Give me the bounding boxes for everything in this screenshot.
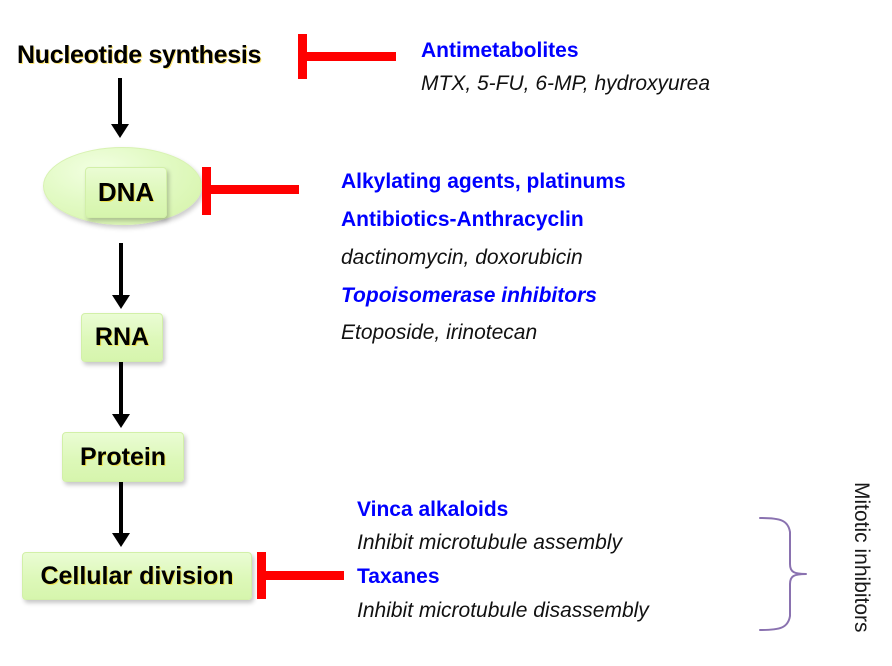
annotation-line-anthracyclin-examples: dactinomycin, doxorubicin bbox=[341, 238, 626, 278]
annotation-line-vinca-mechanism: Inhibit microtubule assembly bbox=[357, 526, 649, 559]
inhibition-bar-division-arm bbox=[257, 571, 344, 580]
annotation-line-topoisomerase-examples: Etoposide, irinotecan bbox=[341, 314, 626, 351]
annotation-line-taxanes-mechanism: Inhibit microtubule disassembly bbox=[357, 594, 649, 628]
arrow-rna-to-protein-head bbox=[112, 414, 130, 428]
arrow-protein-to-division-stem bbox=[119, 482, 123, 535]
annotation-line-alkylating-agents: Alkylating agents, platinums bbox=[341, 162, 626, 202]
flow-node-dna-label: DNA bbox=[98, 177, 154, 208]
flow-node-cellular-division: Cellular division bbox=[22, 552, 252, 600]
annotation-line-antimetabolite-examples: MTX, 5-FU, 6-MP, hydroxyurea bbox=[421, 66, 710, 102]
flow-node-rna-label: RNA bbox=[95, 323, 149, 352]
diagram-canvas: Nucleotide synthesis DNA RNA Protein Cel… bbox=[0, 0, 892, 666]
arrow-dna-to-rna-head bbox=[112, 295, 130, 309]
flow-node-nucleotide-synthesis: Nucleotide synthesis bbox=[17, 41, 261, 70]
flow-node-protein: Protein bbox=[62, 432, 184, 482]
annotation-line-topoisomerase-inhibitors: Topoisomerase inhibitors bbox=[341, 278, 626, 314]
arrow-rna-to-protein-stem bbox=[119, 362, 123, 416]
flow-node-dna-box: DNA bbox=[85, 167, 167, 218]
mitotic-inhibitors-brace bbox=[758, 510, 836, 638]
annotation-block-division: Vinca alkaloids Inhibit microtubule asse… bbox=[357, 494, 649, 628]
arrow-dna-to-rna-stem bbox=[119, 243, 123, 297]
flow-node-protein-label: Protein bbox=[80, 443, 166, 472]
annotation-line-antibiotics-anthracyclin: Antibiotics-Anthracyclin bbox=[341, 202, 626, 238]
annotation-block-dna: Alkylating agents, platinums Antibiotics… bbox=[341, 162, 626, 351]
annotation-block-nucleotide: Antimetabolites MTX, 5-FU, 6-MP, hydroxy… bbox=[421, 36, 710, 102]
inhibition-bar-dna-arm bbox=[202, 185, 299, 194]
flow-node-cellular-division-label: Cellular division bbox=[40, 562, 233, 591]
annotation-line-vinca-alkaloids: Vinca alkaloids bbox=[357, 494, 649, 526]
inhibition-bar-nucleotide-arm bbox=[298, 52, 396, 61]
annotation-line-taxanes: Taxanes bbox=[357, 559, 649, 594]
mitotic-inhibitors-group-label: Mitotic inhibitors bbox=[849, 482, 873, 633]
arrow-nucleotide-to-dna-stem bbox=[118, 78, 122, 126]
arrow-nucleotide-to-dna-head bbox=[111, 124, 129, 138]
flow-node-rna: RNA bbox=[81, 313, 163, 362]
annotation-line-antimetabolites: Antimetabolites bbox=[421, 36, 710, 66]
arrow-protein-to-division-head bbox=[112, 533, 130, 547]
